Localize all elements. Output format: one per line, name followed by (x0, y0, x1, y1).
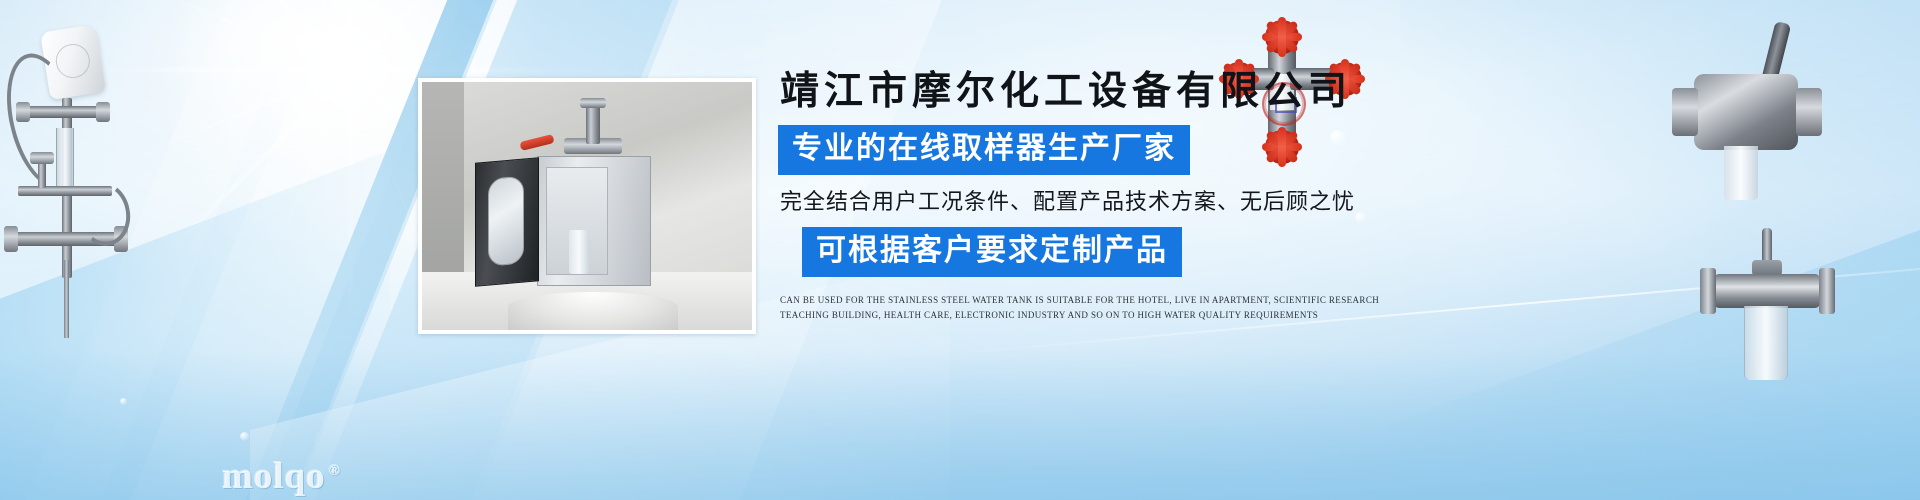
mounting-post (64, 260, 69, 338)
sun-ray (349, 0, 437, 70)
sun-ray (263, 0, 351, 70)
secondary-tagline-badge: 可根据客户要求定制产品 (802, 227, 1182, 277)
sun-ray (263, 70, 351, 284)
bokeh-bubble (120, 398, 127, 405)
english-description-text: Can be used for the stainless steel wate… (780, 293, 1380, 323)
sight-glass (1744, 306, 1788, 380)
value-proposition-text: 完全结合用户工况条件、配置产品技术方案、无后顾之忧 (780, 191, 1418, 213)
handwheel (1265, 20, 1299, 54)
red-valve-handle (519, 134, 554, 151)
sight-glass (1724, 146, 1758, 200)
valve-cap (580, 98, 606, 108)
cabinet-interior (546, 167, 608, 275)
door-window (488, 176, 524, 267)
brand-wordmark: molqo (222, 456, 326, 497)
flange (4, 226, 18, 252)
bokeh-bubble (240, 432, 249, 441)
right-product-image-lever-valve (1672, 22, 1822, 207)
flange (1672, 88, 1698, 136)
left-product-image (0, 10, 190, 340)
corner-wedge-top-right (1400, 0, 1920, 330)
cabinet-top-valve (564, 98, 622, 160)
flange (1796, 88, 1822, 136)
sun-ray (350, 0, 564, 71)
flange (1819, 268, 1835, 314)
valve-body (1714, 274, 1820, 308)
sun-ray (348, 70, 353, 335)
sun-ray (348, 0, 353, 70)
cabinet-door (475, 157, 539, 287)
brand-watermark-logo: molqo® (222, 458, 341, 495)
sampler-cabinet (537, 156, 651, 286)
flange (96, 102, 110, 122)
primary-tagline-badge: 专业的在线取样器生产厂家 (778, 125, 1190, 175)
registered-trademark-icon: ® (329, 463, 341, 479)
photo-pedestal (508, 292, 678, 330)
sample-bottle (569, 230, 589, 274)
company-name-title: 靖江市摩尔化工设备有限公司 (780, 72, 1418, 111)
promotional-banner: 靖江市摩尔化工设备有限公司 专业的在线取样器生产厂家 完全结合用户工况条件、配置… (0, 0, 1920, 500)
valve-stem (586, 104, 600, 144)
sun-ray (350, 68, 615, 73)
valve-body (1694, 74, 1798, 150)
sun-ray (348, 0, 539, 72)
photo-content (422, 82, 752, 330)
banner-copy-block: 靖江市摩尔化工设备有限公司 专业的在线取样器生产厂家 完全结合用户工况条件、配置… (778, 72, 1418, 323)
center-product-photo (418, 78, 756, 334)
right-product-image-sampling-valve (1700, 228, 1835, 388)
flange (1700, 268, 1716, 314)
